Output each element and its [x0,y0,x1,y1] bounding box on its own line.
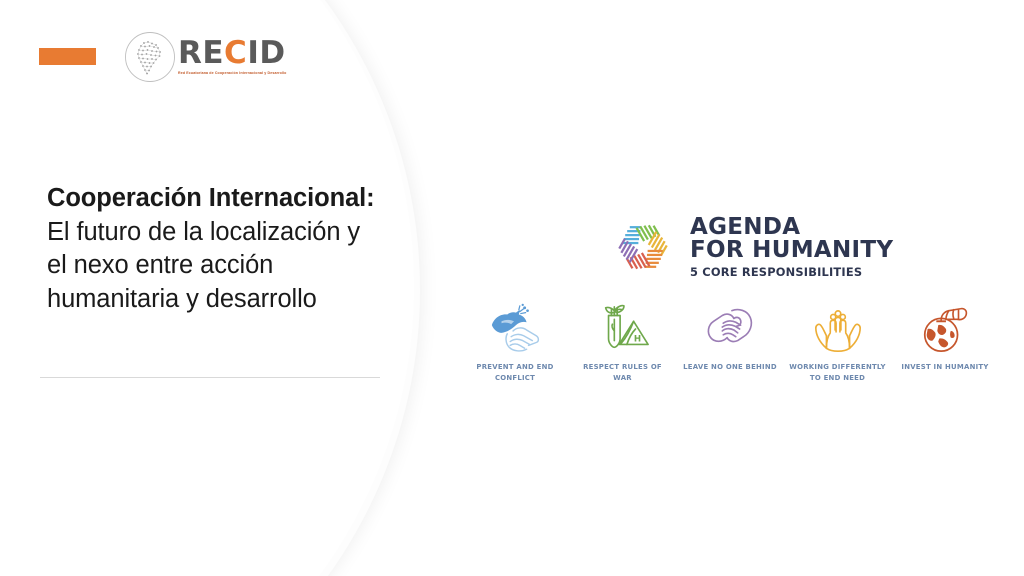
coin-into-globe-icon [913,296,977,356]
slide-canvas: RECID Red Ecuatoriana de Cooperación Int… [0,0,1024,576]
recid-wordmark: RECID Red Ecuatoriana de Cooperación Int… [178,38,287,75]
responsibility-item: INVEST IN HUMANITY [895,296,995,373]
ecuador-map-emblem-icon [124,31,176,83]
recid-word: RECID [178,38,287,69]
page-title-rest: El futuro de la localización y el nexo e… [47,218,360,313]
page-title-lead: Cooperación Internacional: [47,184,375,212]
dove-handshake-icon [483,296,547,356]
responsibility-label: LEAVE NO ONE BEHIND [683,362,777,373]
agenda-wordmark: AGENDA FOR HUMANITY 5 CORE RESPONSIBILIT… [690,216,893,279]
responsibility-item: LEAVE NO ONE BEHIND [680,296,780,373]
agenda-title-line1: AGENDA [690,216,893,239]
responsibility-item: PREVENT AND END CONFLICT [465,296,565,383]
responsibility-label: PREVENT AND END CONFLICT [465,362,565,383]
responsibility-item: H RESPECT RULES OF WAR [573,296,673,383]
agenda-for-humanity-block: AGENDA FOR HUMANITY 5 CORE RESPONSIBILIT… [455,200,995,410]
slide-header: RECID Red Ecuatoriana de Cooperación Int… [0,0,420,110]
title-divider [40,377,380,378]
responsibility-label: WORKING DIFFERENTLY TO END NEED [788,362,888,383]
responsibilities-row: PREVENT AND END CONFLICT [465,296,995,383]
page-title: Cooperación Internacional: El futuro de … [47,182,377,317]
recid-word-re: RE [178,35,224,71]
hands-holding-people-icon [806,296,870,356]
recid-logo: RECID Red Ecuatoriana de Cooperación Int… [124,30,304,84]
responsibility-item: WORKING DIFFERENTLY TO END NEED [788,296,888,383]
recid-word-c: C [224,35,247,71]
responsibility-label: RESPECT RULES OF WAR [573,362,673,383]
agenda-logo-row: AGENDA FOR HUMANITY 5 CORE RESPONSIBILIT… [610,214,893,280]
agenda-tagline: 5 CORE RESPONSIBILITIES [690,265,893,279]
recid-word-id: ID [247,35,285,71]
clasped-hands-icon [698,296,762,356]
title-block: Cooperación Internacional: El futuro de … [47,182,377,317]
recid-subtitle: Red Ecuatoriana de Cooperación Internaci… [178,71,287,75]
agenda-title-line2: FOR HUMANITY [690,239,893,262]
bomb-sprout-tent-hospital-icon: H [591,296,655,356]
orange-accent-bar [39,48,96,65]
svg-text:H: H [633,335,640,345]
agenda-pinwheel-logo [610,214,676,280]
responsibility-label: INVEST IN HUMANITY [901,362,988,373]
